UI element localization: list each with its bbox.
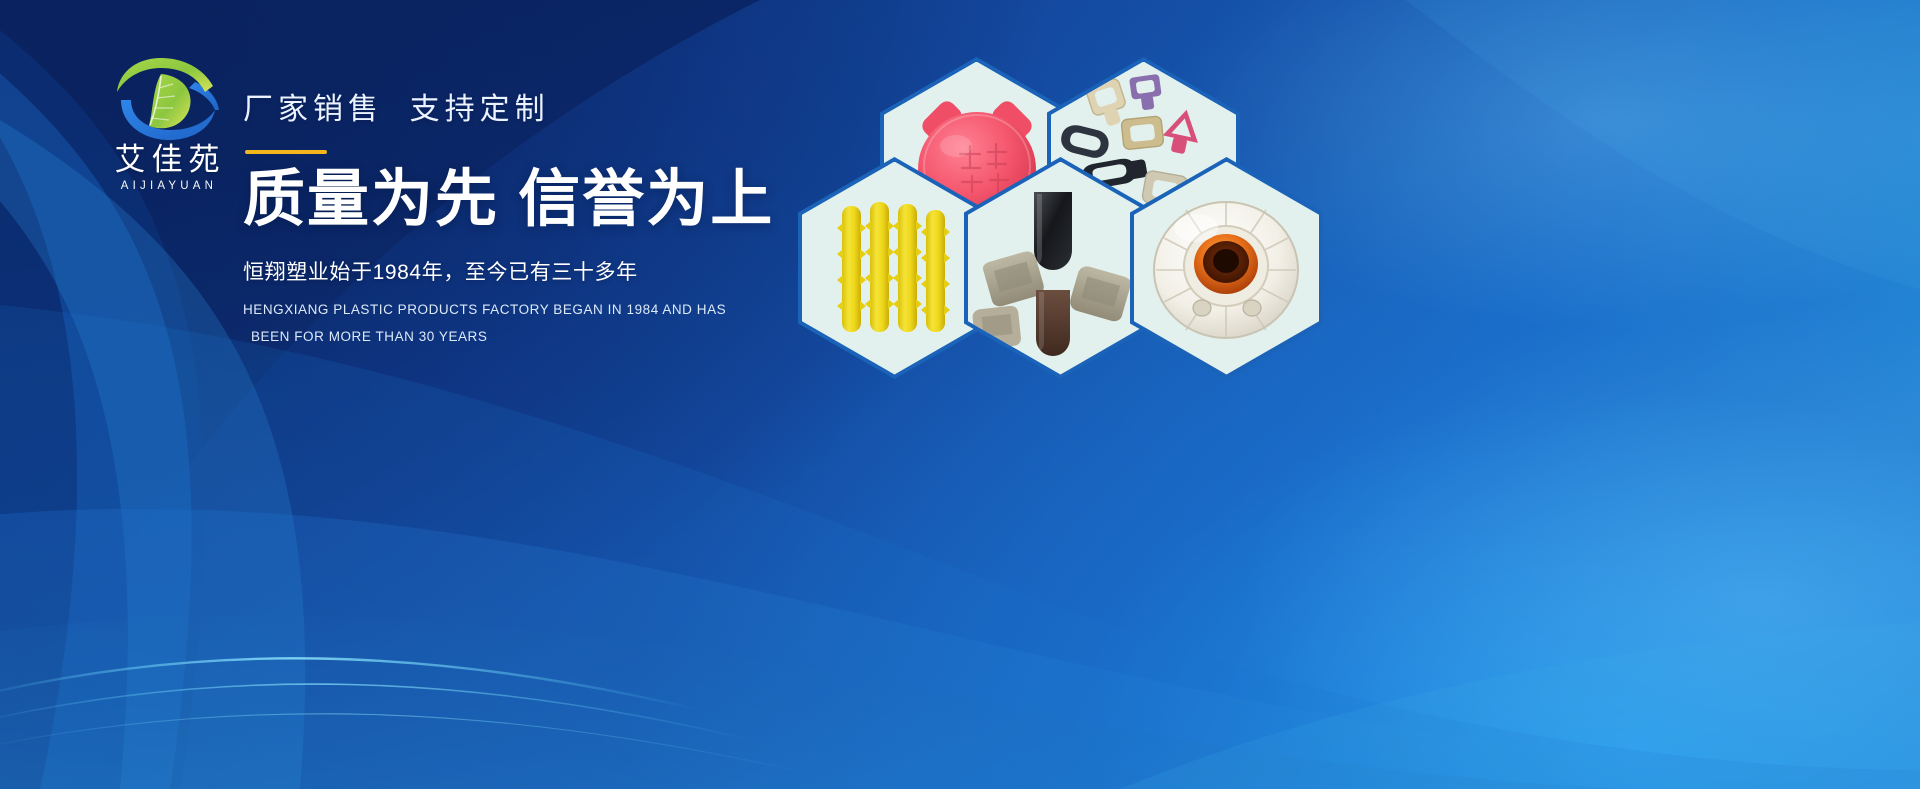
logo-name-cn: 艾佳苑 xyxy=(109,144,226,177)
company-logo: 艾佳苑 AIJIAYUAN xyxy=(72,52,262,202)
product-hexagon-cluster xyxy=(798,45,1318,375)
leaf-swoosh-logo-icon xyxy=(103,52,231,148)
gold-divider xyxy=(245,150,327,154)
logo-name-en: AIJIAYUAN xyxy=(117,180,217,192)
promo-banner: 艾佳苑 AIJIAYUAN 厂家销售 支持定制 质量为先 信誉为上 恒翔塑业始于… xyxy=(0,0,1920,789)
